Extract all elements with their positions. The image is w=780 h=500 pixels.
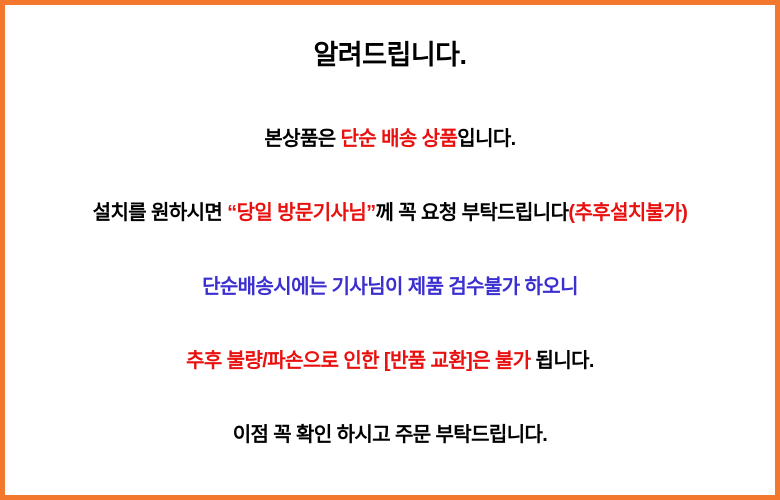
notice-text-segment: 됩니다. (536, 350, 594, 372)
notice-line: 추후 불량/파손으로 인한 [반품 교환]은 불가 됩니다. (186, 349, 594, 374)
notice-line: 본상품은 단순 배송 상품입니다. (264, 127, 515, 152)
notice-text-segment: 추후 불량/파손으로 인한 [반품 교환]은 불가 (186, 350, 535, 372)
notice-text-segment: 입니다. (457, 128, 515, 150)
notice-text-segment: 본상품은 (264, 128, 340, 150)
notice-text-segment: 설치를 원하시면 (93, 202, 228, 224)
notice-line: 설치를 원하시면 “당일 방문기사님”께 꼭 요청 부탁드립니다(추후설치불가) (93, 201, 688, 226)
notice-text-segment: 단순배송시에는 기사님이 제품 검수불가 하오니 (202, 276, 578, 298)
notice-line: 단순배송시에는 기사님이 제품 검수불가 하오니 (202, 275, 578, 300)
notice-banner: 알려드립니다. 본상품은 단순 배송 상품입니다.설치를 원하시면 “당일 방문… (0, 0, 780, 500)
notice-line-list: 본상품은 단순 배송 상품입니다.설치를 원하시면 “당일 방문기사님”께 꼭 … (29, 127, 751, 448)
notice-text-segment: 께 꼭 요청 부탁드립니다 (376, 202, 569, 224)
notice-text-segment: 단순 배송 상품 (341, 128, 458, 150)
notice-title: 알려드립니다. (313, 39, 466, 71)
notice-line: 이점 꼭 확인 하시고 주문 부탁드립니다. (233, 423, 548, 448)
notice-text-segment: 이점 꼭 확인 하시고 주문 부탁드립니다. (233, 424, 548, 446)
notice-text-segment: “당일 방문기사님” (227, 202, 375, 224)
notice-content: 알려드립니다. 본상품은 단순 배송 상품입니다.설치를 원하시면 “당일 방문… (5, 5, 775, 495)
notice-text-segment: (추후설치불가) (568, 202, 687, 224)
